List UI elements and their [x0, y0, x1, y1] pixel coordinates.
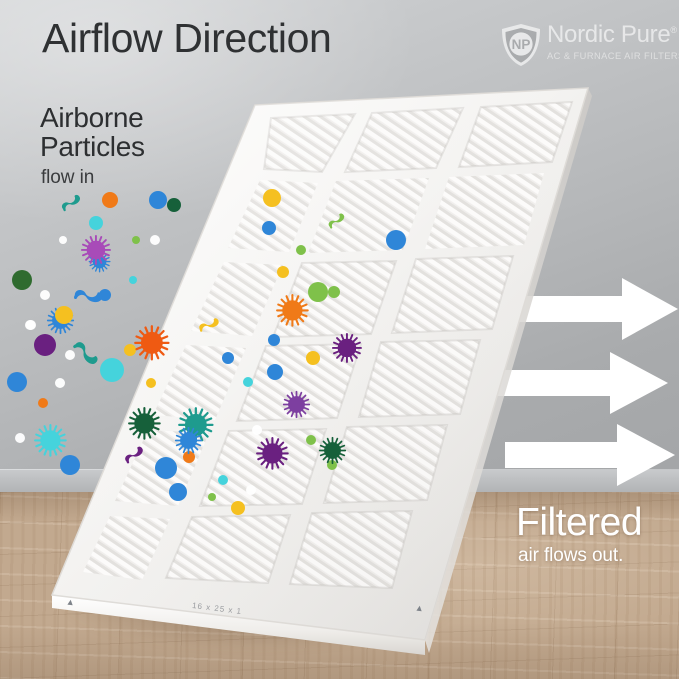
shield-icon: NP [500, 23, 542, 67]
trapped-particle [277, 266, 289, 278]
trapped-particle [328, 286, 340, 298]
airborne-particle [127, 406, 162, 441]
shield-initials: NP [512, 37, 531, 52]
trapped-particle [222, 352, 234, 364]
airborne-particle [34, 334, 56, 356]
trapped-particle [169, 483, 187, 501]
page-title: Airflow Direction [42, 18, 331, 59]
trapped-particle [275, 293, 310, 328]
airborne-particle [129, 276, 137, 284]
airborne-heading-line1: Airborne [40, 102, 143, 133]
logo-registered-mark: ® [670, 25, 676, 35]
trapped-particle [308, 282, 328, 302]
airborne-particle [55, 378, 65, 388]
trapped-particle [218, 475, 228, 485]
airborne-particle [102, 192, 118, 208]
airborne-particle [55, 306, 73, 324]
logo-wordmark: Nordic Pure® AC & FURNACE AIR FILTERS [547, 23, 679, 61]
trapped-particle [208, 493, 216, 501]
airborne-particle [15, 433, 25, 443]
trapped-particle [263, 189, 281, 207]
airborne-particle [167, 198, 181, 212]
airborne-particle [70, 283, 106, 306]
trapped-particle [322, 207, 350, 235]
trapped-particle [255, 436, 290, 471]
trapped-particle [252, 425, 262, 435]
trapped-particle [246, 485, 256, 495]
trapped-particle [296, 245, 306, 255]
product-infographic-scene: 16 x 25 x 1 ▲ ▲ Airflow Direction Airbor… [0, 0, 679, 679]
airborne-particle [26, 320, 36, 330]
trapped-particle [174, 426, 203, 455]
airborne-particle [89, 216, 103, 230]
airborne-subnote: flow in [41, 167, 94, 189]
logo-brand-name: Nordic Pure® [547, 23, 679, 47]
trapped-particle [155, 457, 177, 479]
trapped-particle [306, 351, 320, 365]
trapped-particle [262, 221, 276, 235]
trapped-particle [318, 436, 347, 465]
airborne-particle [117, 439, 148, 470]
airborne-particle [133, 324, 171, 362]
airborne-particle [146, 378, 156, 388]
logo-tagline: AC & FURNACE AIR FILTERS [547, 51, 679, 61]
airborne-particle [150, 235, 160, 245]
airborne-particle [59, 236, 67, 244]
trapped-particle [386, 230, 406, 250]
airborne-particle [54, 188, 86, 219]
airborne-particle [40, 290, 50, 300]
airborne-heading-line2: Particles [40, 132, 145, 161]
trapped-particle [192, 311, 224, 339]
airborne-particle [100, 358, 124, 382]
trapped-particle [282, 390, 311, 419]
airborne-particle [12, 270, 32, 290]
airborne-particle [132, 236, 140, 244]
airborne-particle [60, 455, 80, 475]
airborne-particle [38, 398, 48, 408]
trapped-particle [243, 377, 253, 387]
airborne-particles-heading: Airborne Particles [40, 103, 145, 162]
trapped-particle [306, 435, 316, 445]
trapped-particle [267, 364, 283, 380]
airborne-particle [80, 234, 112, 266]
trapped-particle [231, 501, 245, 515]
trapped-particle [331, 332, 363, 364]
airborne-particle [7, 372, 27, 392]
airborne-particle [33, 423, 68, 458]
filtered-subline: air flows out. [518, 545, 623, 567]
filtered-headline: Filtered [516, 503, 642, 542]
nordic-pure-logo: NP Nordic Pure® AC & FURNACE AIR FILTERS [500, 22, 660, 68]
trapped-particle [268, 334, 280, 346]
airborne-particle [149, 191, 167, 209]
